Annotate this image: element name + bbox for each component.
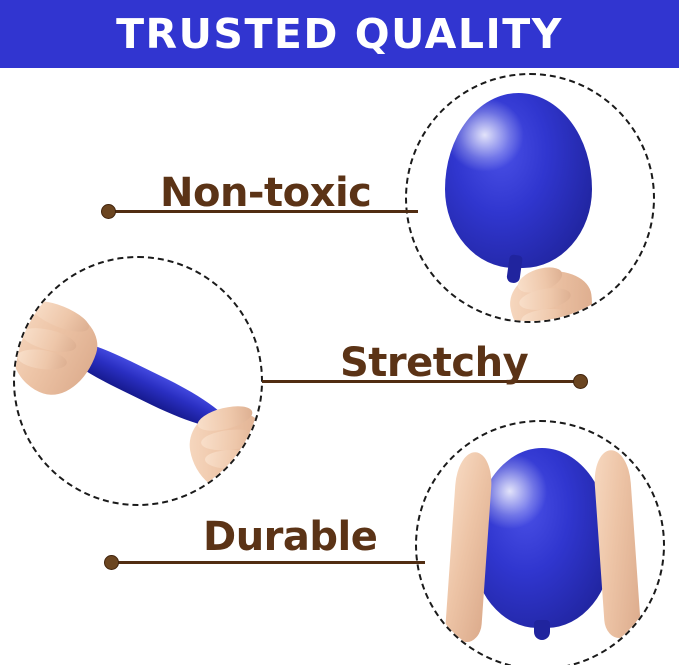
balloon-shape: [472, 448, 612, 628]
hand-shape-right: [592, 449, 641, 639]
balloon-neck: [534, 620, 550, 640]
feature-label-nontoxic: Non-toxic: [160, 173, 371, 213]
balloon-shape: [445, 93, 592, 268]
image-hands-pressing-balloon: [417, 422, 663, 665]
connector-line-durable: [115, 561, 425, 564]
feature-circle-durable: [415, 420, 665, 665]
finger-shape: [205, 450, 259, 469]
connector-dot-durable: [104, 555, 119, 570]
feature-label-stretchy: Stretchy: [340, 343, 528, 383]
hand-shape-left: [444, 451, 493, 643]
feature-circle-stretchy: [13, 256, 263, 506]
infographic-page: TRUSTED QUALITY Non-toxic: [0, 0, 679, 665]
connector-dot-nontoxic: [101, 204, 116, 219]
image-hands-stretching-balloon: [15, 258, 261, 504]
feature-label-durable: Durable: [203, 517, 377, 557]
image-hand-holding-balloon: [407, 75, 653, 321]
feature-circle-nontoxic: [405, 73, 655, 323]
header-banner: TRUSTED QUALITY: [0, 0, 679, 68]
page-title: TRUSTED QUALITY: [0, 0, 679, 68]
connector-dot-stretchy: [573, 374, 588, 389]
